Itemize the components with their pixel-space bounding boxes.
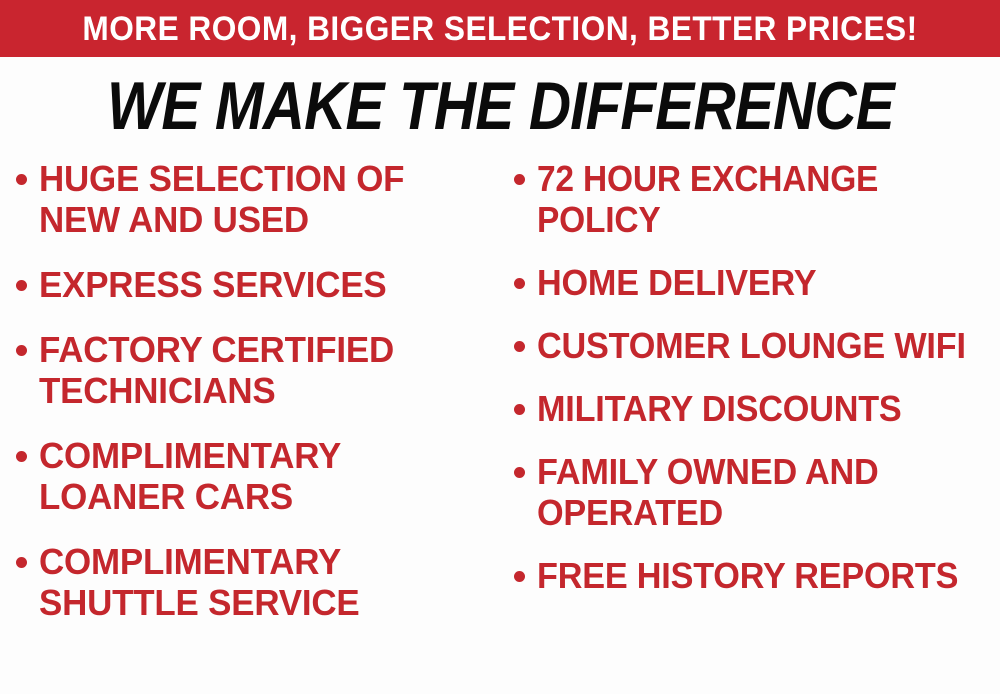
top-banner-text: MORE ROOM, BIGGER SELECTION, BETTER PRIC…	[82, 12, 917, 46]
list-item-label: HUGE SELECTION OF NEW AND USED	[39, 158, 480, 240]
list-item-label: COMPLIMENTARY SHUTTLE SERVICE	[39, 541, 480, 623]
list-item: COMPLIMENTARY SHUTTLE SERVICE	[16, 541, 494, 623]
bullet-dot-icon	[16, 280, 27, 291]
benefits-column-right: 72 HOUR EXCHANGE POLICY HOME DELIVERY CU…	[514, 158, 1000, 618]
list-item: FACTORY CERTIFIED TECHNICIANS	[16, 329, 494, 411]
bullet-dot-icon	[514, 571, 525, 582]
bullet-dot-icon	[514, 467, 525, 478]
bullet-dot-icon	[16, 345, 27, 356]
bullet-dot-icon	[16, 174, 27, 185]
list-item: FREE HISTORY REPORTS	[514, 555, 1000, 596]
list-item-label: COMPLIMENTARY LOANER CARS	[39, 435, 480, 517]
list-item: HUGE SELECTION OF NEW AND USED	[16, 158, 494, 240]
list-item-label: EXPRESS SERVICES	[39, 264, 480, 305]
list-item-label: FAMILY OWNED AND OPERATED	[537, 451, 977, 533]
list-item: EXPRESS SERVICES	[16, 264, 494, 305]
list-item: MILITARY DISCOUNTS	[514, 388, 1000, 429]
list-item: HOME DELIVERY	[514, 262, 1000, 303]
bullet-dot-icon	[514, 278, 525, 289]
list-item-label: FREE HISTORY REPORTS	[537, 555, 977, 596]
bullet-dot-icon	[16, 451, 27, 462]
list-item-label: 72 HOUR EXCHANGE POLICY	[537, 158, 968, 240]
list-item-label: HOME DELIVERY	[537, 262, 977, 303]
bullet-dot-icon	[514, 341, 525, 352]
bullet-dot-icon	[514, 174, 525, 185]
top-banner: MORE ROOM, BIGGER SELECTION, BETTER PRIC…	[0, 0, 1000, 57]
headline-text: WE MAKE THE DIFFERENCE	[107, 72, 894, 140]
list-item-label: MILITARY DISCOUNTS	[537, 388, 977, 429]
list-item: FAMILY OWNED AND OPERATED	[514, 451, 1000, 533]
list-item: COMPLIMENTARY LOANER CARS	[16, 435, 494, 517]
benefits-columns: HUGE SELECTION OF NEW AND USED EXPRESS S…	[0, 158, 1000, 694]
promo-banner-page: MORE ROOM, BIGGER SELECTION, BETTER PRIC…	[0, 0, 1000, 694]
headline: WE MAKE THE DIFFERENCE	[0, 72, 1000, 140]
benefits-column-left: HUGE SELECTION OF NEW AND USED EXPRESS S…	[16, 158, 494, 647]
list-item-label: CUSTOMER LOUNGE WIFI	[537, 325, 977, 366]
list-item: 72 HOUR EXCHANGE POLICY	[514, 158, 1000, 240]
list-item-label: FACTORY CERTIFIED TECHNICIANS	[39, 329, 480, 411]
bullet-dot-icon	[514, 404, 525, 415]
list-item: CUSTOMER LOUNGE WIFI	[514, 325, 1000, 366]
bullet-dot-icon	[16, 557, 27, 568]
